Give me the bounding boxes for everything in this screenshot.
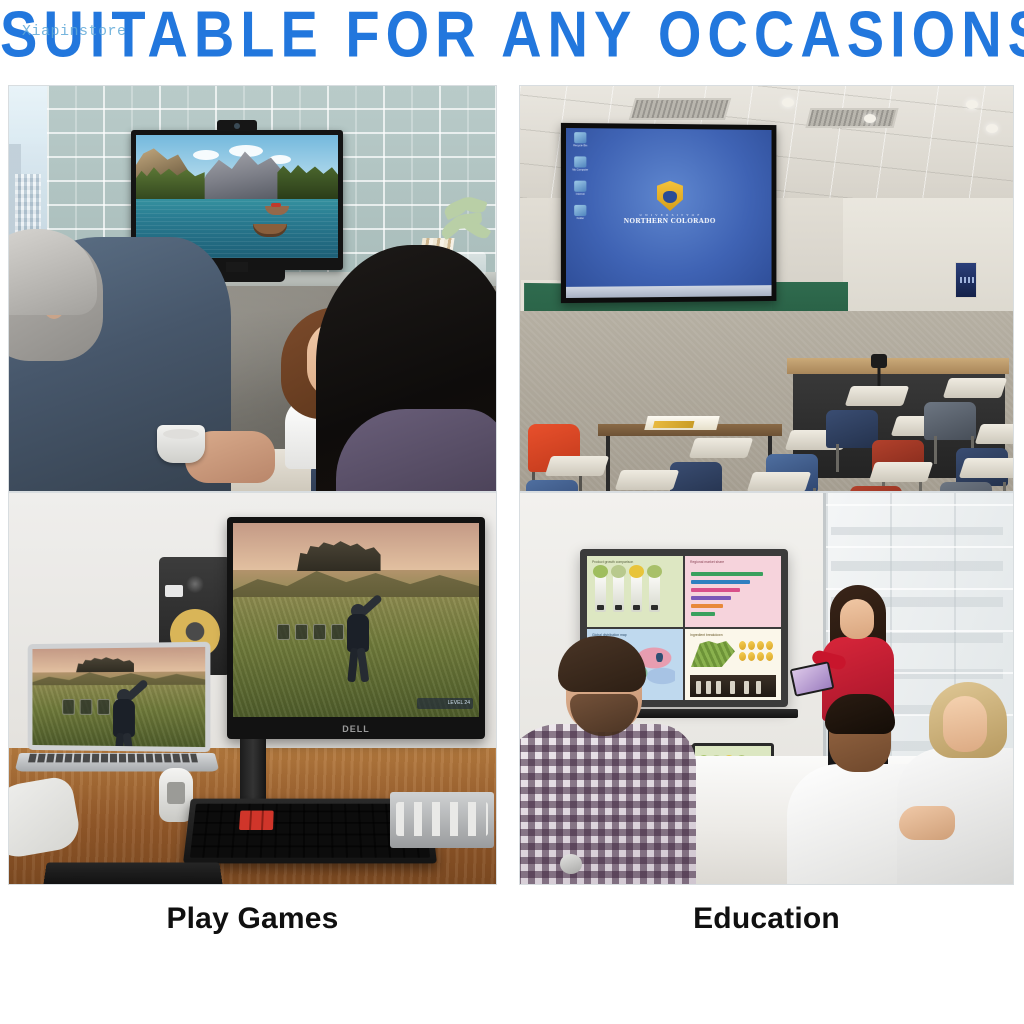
- male-hair: [8, 229, 97, 315]
- audio-mixer[interactable]: [390, 792, 494, 848]
- papers-on-table: [644, 416, 719, 430]
- ceiling-light: [864, 114, 876, 123]
- speaker-label: [165, 585, 183, 597]
- tube-chart: [595, 572, 660, 612]
- panel-play-games: LEVEL 24 DELL: [8, 492, 497, 885]
- monitor-brand-logo: DELL: [342, 724, 370, 734]
- game-character-mirror: [107, 689, 141, 747]
- quadrant-title: Ingredient breakdown: [690, 633, 748, 637]
- attendee-foreground: [519, 638, 704, 885]
- occasion-grid: Home Theater: [8, 85, 1016, 965]
- game-hud[interactable]: [277, 624, 344, 640]
- game-status-label: LEVEL 24: [417, 698, 473, 709]
- wasd-keys[interactable]: [239, 811, 274, 830]
- ceiling-light: [986, 124, 998, 133]
- lab-counter-top: [787, 358, 1009, 374]
- attendee-face: [943, 696, 987, 752]
- meeting-room-scene: Product growth comparison Regional marke…: [520, 493, 1013, 884]
- attendee-far-right: [903, 688, 1014, 885]
- laptop-keyboard[interactable]: [28, 754, 198, 763]
- laptop-lid: [28, 642, 211, 752]
- attendee-hair: [558, 636, 646, 692]
- game-render: LEVEL 24: [233, 523, 479, 717]
- taskbar[interactable]: [566, 285, 772, 298]
- ceiling-light: [782, 98, 794, 107]
- presenter-face: [840, 599, 874, 639]
- air-vent: [629, 98, 731, 120]
- attendee-hair: [825, 694, 895, 734]
- page-title: SUITABLE FOR ANY OCCASIONS: [0, 0, 1024, 73]
- laptop-screen: [32, 647, 205, 747]
- photo-education: Product growth comparison Regional marke…: [519, 492, 1014, 885]
- bar-chart: [691, 572, 775, 620]
- caption-education: Education: [519, 902, 1014, 936]
- caption-play-games: Play Games: [8, 902, 497, 936]
- ceiling-light: [966, 100, 978, 109]
- desktop-icon[interactable]: Folder: [569, 205, 591, 220]
- game-render-mirror: [32, 647, 205, 747]
- projected-desktop: Recycle Bin My Computer Internet Folder …: [566, 128, 772, 298]
- desktop-monitor: LEVEL 24 DELL: [227, 517, 485, 739]
- desktop-icon[interactable]: Internet: [569, 181, 591, 196]
- tweeter: [186, 575, 204, 593]
- document-camera-icon: [871, 354, 887, 368]
- university-logo: U N I V E R S I T Y O F NORTHERN COLORAD…: [595, 181, 745, 225]
- gaming-desk-scene: LEVEL 24 DELL: [9, 493, 496, 884]
- monitor-stand: [240, 739, 266, 805]
- quadrant-tubes: Product growth comparison: [587, 556, 683, 627]
- projection-screen: Recycle Bin My Computer Internet Folder …: [561, 123, 777, 303]
- shield-icon: [657, 181, 683, 211]
- photo-conference: Recycle Bin My Computer Internet Folder …: [519, 85, 1014, 492]
- logo-title: NORTHERN COLORADO: [595, 217, 745, 225]
- wristwatch: [560, 854, 582, 874]
- wall-poster: [955, 262, 977, 298]
- panel-home-theater: Home Theater: [8, 85, 497, 492]
- product-icons: [739, 641, 773, 661]
- classroom-scene: Recycle Bin My Computer Internet Folder …: [520, 86, 1013, 491]
- living-room-scene: [9, 86, 496, 491]
- quadrant-title: Regional market share: [690, 560, 748, 564]
- air-vent: [806, 108, 899, 128]
- photo-home-theater: [8, 85, 497, 492]
- keyboard-tray: [43, 863, 223, 885]
- desktop-icon[interactable]: My Computer: [569, 156, 591, 171]
- game-character: [341, 604, 375, 682]
- promo-banner-page: SUITABLE FOR ANY OCCASIONS Xiapinstore: [0, 0, 1024, 1024]
- laptop: [17, 643, 213, 775]
- webcam-icon: [217, 120, 257, 131]
- panel-conference: Recycle Bin My Computer Internet Folder …: [519, 85, 1014, 492]
- cloud: [193, 150, 219, 160]
- quadrant-bars: Regional market share: [685, 556, 781, 627]
- desktop-icons: Recycle Bin My Computer Internet Folder: [569, 132, 591, 229]
- attendee-hand: [899, 806, 955, 840]
- desktop-icon[interactable]: Recycle Bin: [569, 132, 591, 147]
- coffee-mug: [157, 425, 205, 463]
- panel-education: Product growth comparison Regional marke…: [519, 492, 1014, 885]
- plaid-shirt: [519, 724, 696, 885]
- quadrant-title: Product growth comparison: [592, 560, 650, 564]
- monitor-screen: LEVEL 24: [233, 523, 479, 717]
- photo-play-games: LEVEL 24 DELL: [8, 492, 497, 885]
